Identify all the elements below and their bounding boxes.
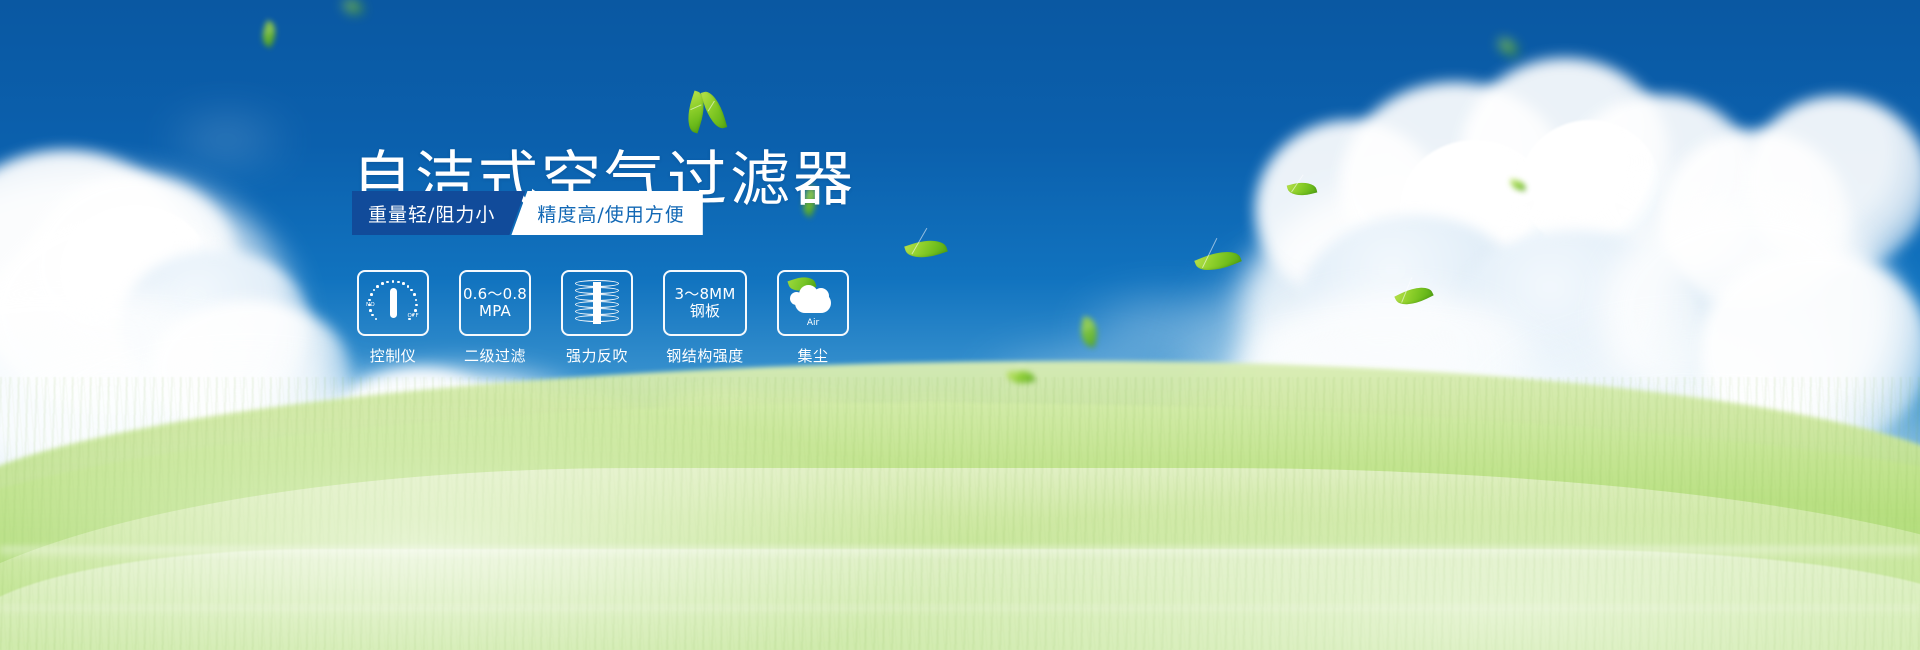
air-cloud-icon: Air [787, 281, 839, 325]
pressure-unit: MPA [479, 303, 511, 320]
feature-controller-box: NO OFF [357, 270, 429, 336]
gauge-icon: NO OFF [367, 280, 419, 326]
feature-dust-collection[interactable]: Air 集尘 [777, 270, 849, 366]
filter-stack-icon [575, 280, 619, 326]
steel-material: 钢板 [690, 303, 720, 320]
feature-two-stage-filtration-caption: 二级过滤 [464, 345, 526, 366]
hero-banner: 自洁式空气过滤器 重量轻/阻力小 精度高/使用方便 [0, 0, 1920, 650]
feature-dust-collection-caption: 集尘 [797, 345, 828, 366]
feature-dust-box: Air [777, 270, 849, 336]
feature-strong-backblow-caption: 强力反吹 [566, 345, 628, 366]
feature-pressure-box: 0.6～0.8 MPA [459, 270, 531, 336]
feature-strong-backblow[interactable]: 强力反吹 [561, 270, 633, 366]
feature-steel-strength[interactable]: 3～8MM 钢板 钢结构强度 [663, 270, 747, 366]
pressure-value: 0.6～0.8 [463, 286, 527, 303]
gauge-on-label: NO [366, 302, 375, 308]
feature-steel-strength-caption: 钢结构强度 [666, 345, 744, 366]
gauge-needle [390, 288, 397, 318]
feature-two-stage-filtration[interactable]: 0.6～0.8 MPA 二级过滤 [459, 270, 531, 366]
feature-controller-caption: 控制仪 [370, 345, 417, 366]
feature-icon-row: NO OFF 控制仪 0.6～0.8 MPA 二级过滤 [357, 270, 849, 366]
banner-content: 自洁式空气过滤器 重量轻/阻力小 精度高/使用方便 [0, 0, 1920, 650]
feature-controller[interactable]: NO OFF 控制仪 [357, 270, 429, 366]
badge-precision-easyuse[interactable]: 精度高/使用方便 [511, 191, 702, 235]
steel-thickness: 3～8MM [675, 286, 736, 303]
feature-steel-box: 3～8MM 钢板 [663, 270, 747, 336]
feature-backblow-box [561, 270, 633, 336]
air-label: Air [787, 318, 839, 328]
badge-lightweight-lowresistance[interactable]: 重量轻/阻力小 [352, 191, 525, 235]
tagline-badges: 重量轻/阻力小 精度高/使用方便 [352, 191, 703, 235]
gauge-off-label: OFF [407, 313, 419, 319]
